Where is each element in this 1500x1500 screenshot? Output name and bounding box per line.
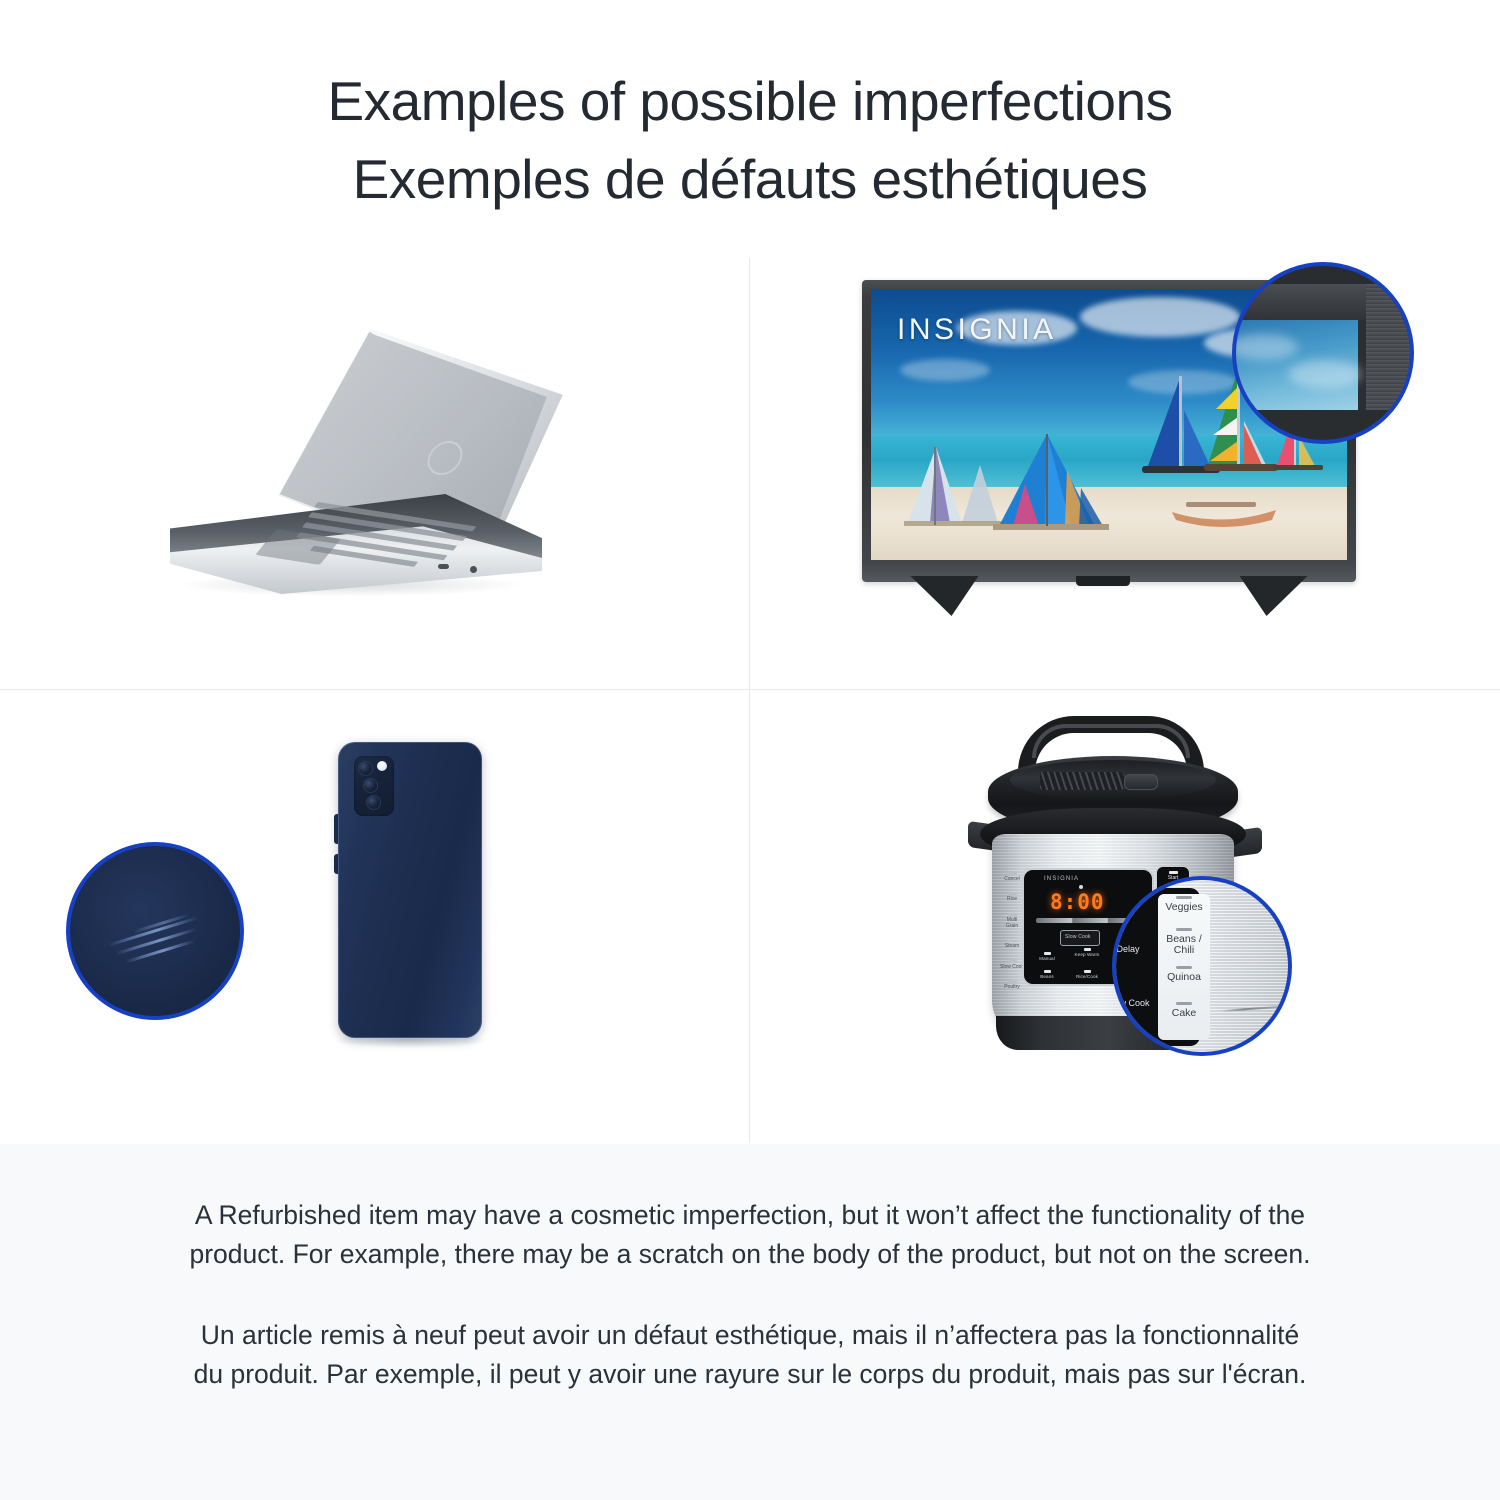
cooker-key-rice[interactable]: Rice: [1000, 893, 1024, 903]
phone-camera-module: [354, 756, 394, 816]
key-label: Cake: [1172, 1007, 1197, 1019]
key-label: Rice: [1007, 896, 1017, 902]
cooker-brand-logo: INSIGNIA: [1044, 876, 1079, 882]
beach-boat-icon: [1166, 484, 1286, 534]
footer-paragraph-en: A Refurbished item may have a cosmetic i…: [185, 1196, 1315, 1274]
tile-smartphone: [0, 690, 750, 1144]
key-label: Poultry: [1004, 984, 1020, 990]
key-label: Beans / Chili: [1166, 933, 1202, 956]
television-illustration: INSIGNIA: [750, 236, 1500, 690]
key-label: Rice/Cook: [1076, 974, 1098, 979]
page-header: Examples of possible imperfections Exemp…: [0, 0, 1500, 218]
tv-screen-zoom: [1236, 320, 1358, 410]
tv-leg-right: [1232, 576, 1307, 616]
key-label: Multi Grain: [1006, 917, 1018, 929]
footer-description: A Refurbished item may have a cosmetic i…: [0, 1144, 1500, 1500]
cooker-status-indicator: [1079, 885, 1083, 889]
cooker-key-multigrain[interactable]: Multi Grain: [1000, 913, 1024, 929]
tv-brand-logo: INSIGNIA: [897, 313, 1057, 347]
phone-scratch-mark: [125, 940, 195, 964]
cooker-mode-chip[interactable]: Slow Cook: [1060, 930, 1100, 946]
laptop-port-usbc: [438, 564, 449, 569]
key-label: Keep Warm: [1075, 952, 1100, 957]
camera-lens-icon: [363, 778, 378, 793]
cooker-lid-vent: [1040, 772, 1124, 790]
key-label: Beans: [1040, 974, 1054, 979]
cooker-led-display: 8:00: [1050, 890, 1105, 914]
key-label: Veggies: [1165, 901, 1202, 913]
laptop-port-jack: [470, 566, 477, 573]
pressure-cooker-graphic: Cancel Rice Multi Grain Steam Slow Cook …: [966, 716, 1296, 1066]
key-label: Quinoa: [1167, 971, 1201, 983]
tv-leg-left: [910, 576, 985, 616]
loupe-smartphone: [66, 842, 244, 1020]
phone-volume-button[interactable]: [334, 814, 338, 844]
chip-label: Slow Cook: [1065, 934, 1091, 940]
key-label: Slow Cook: [1000, 964, 1024, 970]
cooker-key-veggies-zoom[interactable]: Veggies: [1158, 896, 1210, 913]
product-examples-grid: INSIGNIA: [0, 236, 1500, 1144]
cloud-shape: [1080, 297, 1240, 337]
cooker-key-cake-zoom[interactable]: Cake: [1158, 1002, 1210, 1019]
page-title-en: Examples of possible imperfections: [0, 62, 1500, 140]
television-graphic: INSIGNIA: [862, 280, 1372, 640]
cooker-key-beans[interactable]: Beans: [1032, 970, 1062, 979]
cooker-key-poultry[interactable]: Poultry: [1000, 981, 1024, 991]
key-label: Cancel: [1004, 876, 1020, 882]
cooker-key-beanschili-zoom[interactable]: Beans / Chili: [1158, 928, 1210, 956]
cooker-key-slowcook-zoom[interactable]: Slow Cook: [1112, 998, 1150, 1008]
cooker-key-manual[interactable]: Manual: [1032, 952, 1062, 961]
cooker-key-slowcook[interactable]: Slow Cook: [1000, 960, 1024, 970]
key-label: Manual: [1039, 956, 1055, 961]
tile-laptop: [0, 236, 750, 690]
laptop-graphic: [170, 326, 600, 616]
tv-side-panel-zoom: [1366, 284, 1410, 410]
loupe-pressure-cooker: Delay Slow Cook Veggies Beans / Chili Qu…: [1112, 876, 1292, 1056]
cloud-shape: [1288, 360, 1362, 388]
tile-pressure-cooker: Cancel Rice Multi Grain Steam Slow Cook …: [750, 690, 1500, 1144]
cooker-pressure-valve[interactable]: [1124, 774, 1158, 790]
cooker-key-keepwarm[interactable]: Keep Warm: [1072, 948, 1102, 957]
cooker-key-ricecook[interactable]: Rice/Cook: [1072, 970, 1102, 979]
camera-lens-icon: [358, 761, 373, 776]
pressure-cooker-illustration: Cancel Rice Multi Grain Steam Slow Cook …: [750, 690, 1500, 1144]
tile-television: INSIGNIA: [750, 236, 1500, 690]
cooker-lid-handle-highlight: [1032, 724, 1190, 758]
cooker-key-steam[interactable]: Steam: [1000, 940, 1024, 950]
page-title-fr: Exemples de défauts esthétiques: [0, 140, 1500, 218]
cooker-key-delay-zoom[interactable]: Delay: [1112, 944, 1150, 954]
cooker-key-quinoa-zoom[interactable]: Quinoa: [1158, 966, 1210, 983]
tv-center-tab: [1076, 576, 1130, 586]
key-label: Steam: [1005, 943, 1019, 949]
camera-flash-icon: [377, 761, 387, 771]
cloud-shape: [900, 359, 990, 381]
phone-power-button[interactable]: [334, 854, 338, 874]
smartphone-graphic: [282, 728, 512, 1058]
cooker-left-key-column: Cancel Rice Multi Grain Steam Slow Cook …: [1000, 872, 1024, 1001]
loupe-television: [1232, 262, 1414, 444]
beach-canopy-center-icon: [985, 430, 1165, 550]
cloud-shape: [1232, 334, 1298, 360]
tv-stand: [862, 576, 1356, 632]
camera-lens-icon: [366, 795, 381, 810]
footer-paragraph-fr: Un article remis à neuf peut avoir un dé…: [185, 1316, 1315, 1394]
refurbished-imperfections-page: Examples of possible imperfections Exemp…: [0, 0, 1500, 1500]
laptop-illustration: [0, 236, 750, 690]
cooker-key-cancel[interactable]: Cancel: [1000, 872, 1024, 882]
